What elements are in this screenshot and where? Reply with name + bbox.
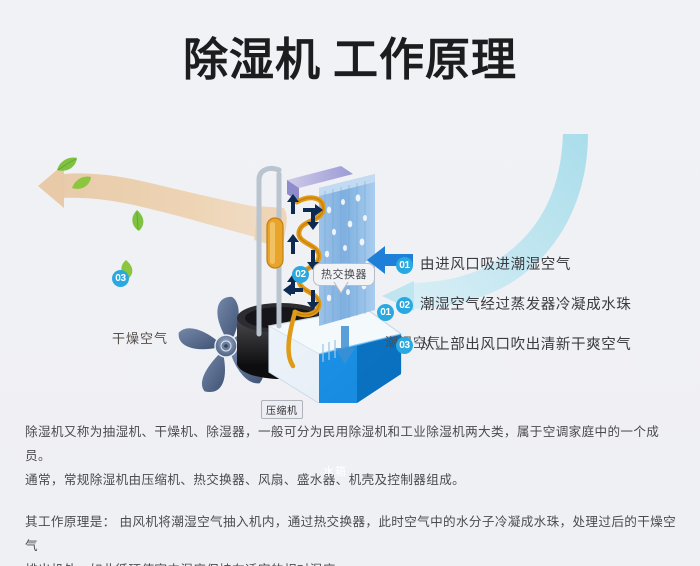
page-title: 除湿机工作原理: [0, 33, 700, 87]
legend-badge-03: 03: [396, 337, 413, 354]
title-lead: 除湿机: [183, 34, 321, 85]
description-block: 除湿机又称为抽湿机、干燥机、除湿器，一般可分为民用除湿机和工业除湿机两大类，属于…: [25, 420, 677, 566]
title-main: 工作原理: [333, 34, 517, 85]
dry-air-badge: 03: [112, 270, 129, 287]
list-item: 01 由进风口吸进潮湿空气: [396, 256, 686, 274]
leaf-icon: [56, 156, 78, 174]
list-item: 02 潮湿空气经过蒸发器冷凝成水珠: [396, 296, 686, 314]
dehumidifier-infographic: 除湿机工作原理: [0, 0, 700, 566]
title-text: 除湿机工作原理: [183, 33, 517, 87]
paragraph-spacer: [25, 492, 677, 510]
compressor-label: 压缩机: [261, 400, 303, 419]
water-tank-label: 水箱: [323, 463, 347, 479]
description-p1-line2: 通常，常规除湿机由压缩机、热交换器、风扇、盛水器、机壳及控制器组成。: [25, 473, 465, 487]
description-paragraph-2: 其工作原理是： 由风机将潮湿空气抽入机内，通过热交换器，此时空气中的水分子冷凝成…: [25, 510, 677, 566]
legend-text-02: 潮湿空气经过蒸发器冷凝成水珠: [420, 296, 631, 314]
legend-text-01: 由进风口吸进潮湿空气: [420, 256, 571, 274]
list-item: 03 从上部出风口吹出清新干爽空气: [396, 336, 686, 354]
humid-air-badge: 01: [377, 304, 394, 321]
legend-badge-01: 01: [396, 257, 413, 274]
heat-exchanger-badge: 02: [292, 266, 309, 283]
callout-pointer-icon: [333, 282, 349, 294]
dry-air-label: 干燥空气: [112, 328, 168, 347]
legend-badge-02: 02: [396, 297, 413, 314]
leaf-icon: [72, 176, 92, 192]
description-p1-line1: 除湿机又称为抽湿机、干燥机、除湿器，一般可分为民用除湿机和工业除湿机两大类，属于…: [25, 425, 659, 463]
leaf-icon: [128, 210, 146, 232]
description-paragraph-1: 除湿机又称为抽湿机、干燥机、除湿器，一般可分为民用除湿机和工业除湿机两大类，属于…: [25, 420, 677, 492]
legend-text-03: 从上部出风口吹出清新干爽空气: [420, 336, 631, 354]
description-p2-line1: 其工作原理是： 由风机将潮湿空气抽入机内，通过热交换器，此时空气中的水分子冷凝成…: [25, 515, 676, 553]
legend-list: 01 由进风口吸进潮湿空气 02 潮湿空气经过蒸发器冷凝成水珠 03 从上部出风…: [396, 256, 686, 354]
